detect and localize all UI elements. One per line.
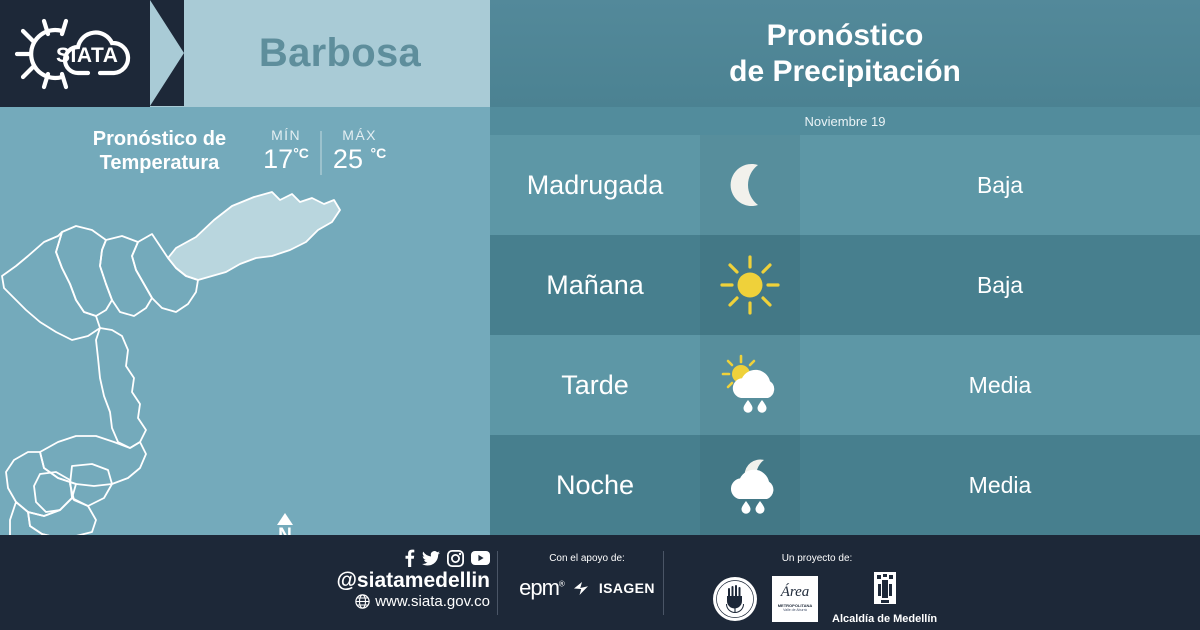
- sun-cloud-rain-icon: [717, 354, 783, 416]
- epm-logo[interactable]: epm®: [519, 575, 564, 601]
- unal-seal-icon[interactable]: [712, 576, 758, 622]
- city-name: Barbosa: [190, 0, 490, 107]
- forecast-date: Noviembre 19: [805, 114, 886, 129]
- left-panel: SIATA Barbosa Pronóstico de Temperatura …: [0, 0, 490, 535]
- footer-divider-1: [497, 551, 498, 615]
- social-handle[interactable]: @siatamedellin: [300, 570, 490, 592]
- table-row[interactable]: Tarde: [490, 335, 1200, 435]
- forecast-probability-cell: Media: [800, 435, 1200, 535]
- forecast-period-label: Madrugada: [527, 170, 664, 201]
- forecast-period-label: Mañana: [546, 270, 644, 301]
- temperature-title-line1: Pronóstico de: [93, 127, 226, 151]
- twitter-icon[interactable]: [422, 551, 440, 566]
- facebook-icon[interactable]: [404, 549, 415, 567]
- precipitation-title-line1: Pronóstico: [767, 18, 924, 53]
- social-icons: [300, 549, 490, 567]
- project-block: Un proyecto de: Área: [712, 553, 972, 625]
- table-row[interactable]: Noche Media: [490, 435, 1200, 535]
- siata-logo-badge[interactable]: SIATA: [0, 0, 150, 107]
- precipitation-title-line2: de Precipitación: [729, 54, 961, 89]
- right-panel: Pronóstico de Precipitación Noviembre 19…: [490, 0, 1200, 535]
- temperature-summary: Pronóstico de Temperatura MÍN 17°C MÁX 2…: [0, 118, 490, 184]
- temperature-max-unit: °C: [370, 145, 386, 161]
- forecast-date-bar: Noviembre 19: [490, 107, 1200, 135]
- precipitation-header: Pronóstico de Precipitación: [490, 0, 1200, 107]
- temperature-min-unit: °C: [293, 145, 309, 161]
- temperature-title: Pronóstico de Temperatura: [93, 127, 226, 176]
- map-region-itagui: [34, 472, 72, 512]
- map-region-barbosa: [168, 192, 340, 280]
- forecast-probability-label: Media: [969, 472, 1032, 499]
- support-block: Con el apoyo de: epm® ISAGEN: [512, 553, 662, 601]
- forecast-period-label: Tarde: [561, 370, 629, 401]
- area-logo-line2: Valle de Aburrá: [783, 608, 807, 612]
- temperature-min: MÍN 17°C: [252, 127, 320, 175]
- website-url: www.siata.gov.co: [375, 593, 490, 610]
- forecast-period-cell: Tarde: [490, 335, 700, 435]
- isagen-logo[interactable]: ISAGEN: [599, 580, 655, 596]
- temperature-title-line2: Temperatura: [93, 151, 226, 175]
- moon-icon: [722, 157, 778, 213]
- table-row[interactable]: Madrugada Baja: [490, 135, 1200, 235]
- alcaldia-crest-icon: [872, 572, 898, 610]
- map-region-medellin-east: [40, 436, 146, 486]
- temperature-max-value: 25 °C: [333, 144, 386, 175]
- temperature-max: MÁX 25 °C: [322, 127, 397, 175]
- forecast-period-cell: Mañana: [490, 235, 700, 335]
- north-arrow-icon: [277, 513, 293, 525]
- forecast-probability-cell: Baja: [800, 135, 1200, 235]
- sun-icon: [719, 254, 781, 316]
- sun-cloud-icon: SIATA: [14, 17, 134, 91]
- area-metropolitana-logo[interactable]: Área METROPOLITANA Valle de Aburrá: [772, 576, 818, 622]
- map-region-copacabana: [100, 236, 152, 316]
- map-region-caldas: [10, 502, 62, 535]
- map-region-bello: [2, 232, 100, 340]
- globe-icon: [355, 594, 370, 609]
- forecast-period-cell: Madrugada: [490, 135, 700, 235]
- alcaldia-medellin-logo[interactable]: Alcaldía de Medellín: [832, 572, 937, 625]
- forecast-period-cell: Noche: [490, 435, 700, 535]
- footer-divider-2: [663, 551, 664, 615]
- forecast-probability-label: Baja: [977, 272, 1023, 299]
- social-block: @siatamedellin www.siata.gov.co: [300, 549, 490, 610]
- map-svg: [0, 180, 490, 535]
- forecast-probability-cell: Baja: [800, 235, 1200, 335]
- temperature-max-label: MÁX: [333, 127, 386, 143]
- temperature-min-value: 17°C: [263, 144, 309, 175]
- alcaldia-label: Alcaldía de Medellín: [832, 613, 937, 625]
- forecast-icon-cell: [700, 235, 800, 335]
- forecast-icon-cell: [700, 335, 800, 435]
- epm-registered-mark: ®: [559, 580, 564, 589]
- forecast-icon-cell: [700, 135, 800, 235]
- footer: @siatamedellin www.siata.gov.co Con el a…: [0, 535, 1200, 630]
- forecast-period-label: Noche: [556, 470, 634, 501]
- youtube-icon[interactable]: [471, 551, 490, 565]
- moon-cloud-rain-icon: [717, 454, 783, 516]
- website-line[interactable]: www.siata.gov.co: [300, 593, 490, 610]
- left-header: SIATA Barbosa: [0, 0, 490, 107]
- isagen-mark-icon: [574, 582, 589, 595]
- temperature-min-label: MÍN: [263, 127, 309, 143]
- forecast-probability-label: Baja: [977, 172, 1023, 199]
- forecast-icon-cell: [700, 435, 800, 535]
- support-caption: Con el apoyo de:: [512, 553, 662, 564]
- project-caption: Un proyecto de:: [742, 553, 892, 564]
- area-logo-script: Área: [781, 585, 810, 600]
- siata-wordmark: SIATA: [56, 44, 118, 67]
- instagram-icon[interactable]: [447, 550, 464, 567]
- forecast-probability-label: Media: [969, 372, 1032, 399]
- aburra-valley-map[interactable]: N: [0, 180, 490, 535]
- infographic-root: SIATA Barbosa Pronóstico de Temperatura …: [0, 0, 1200, 630]
- forecast-rows: Madrugada Baja Mañana: [490, 135, 1200, 535]
- map-region-corridor: [96, 328, 146, 448]
- forecast-probability-cell: Media: [800, 335, 1200, 435]
- table-row[interactable]: Mañana: [490, 235, 1200, 335]
